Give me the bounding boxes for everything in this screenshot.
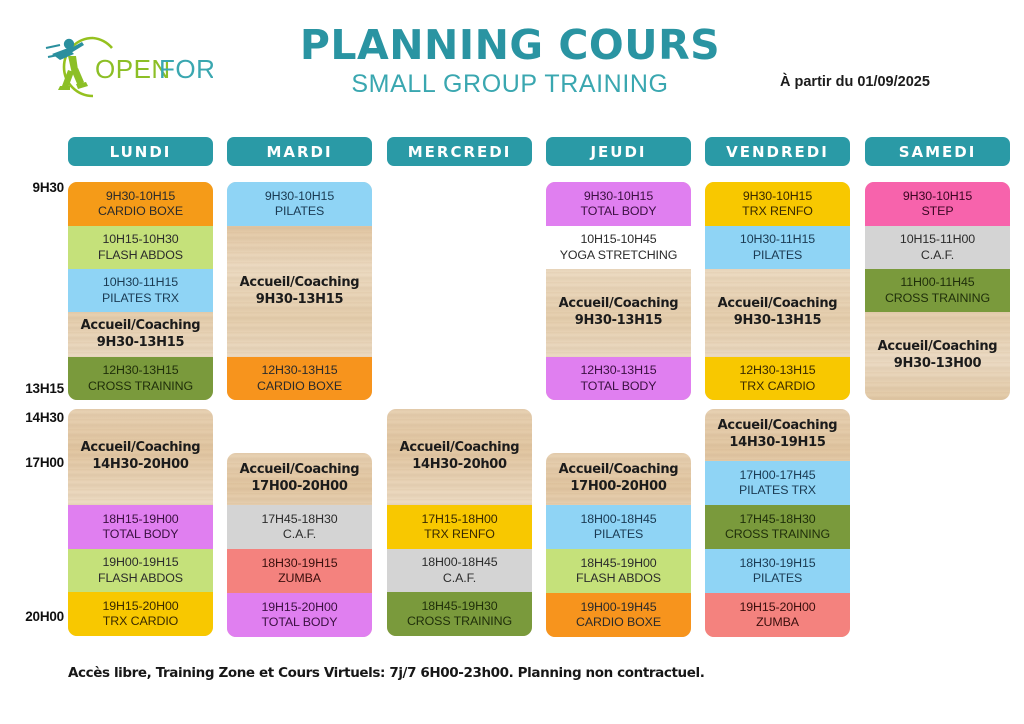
class-name: PILATES <box>753 571 802 586</box>
day-header-mercredi[interactable]: MERCREDI <box>387 137 532 166</box>
time-label: 9H30 <box>4 180 64 195</box>
class-cell[interactable]: 9H30-10H15TOTAL BODY <box>546 182 691 226</box>
class-name: TOTAL BODY <box>581 204 657 219</box>
class-name: TOTAL BODY <box>262 615 338 630</box>
class-time: 12H30-13H15 <box>102 363 178 378</box>
coaching-label: Accueil/Coaching <box>718 296 838 313</box>
class-time: 9H30-10H15 <box>743 189 812 204</box>
class-cell[interactable]: 18H00-18H45PILATES <box>546 505 691 549</box>
coaching-cell[interactable]: Accueil/Coaching14H30-20H00 <box>68 409 213 505</box>
class-time: 18H30-19H15 <box>739 556 815 571</box>
class-name: C.A.F. <box>443 571 476 586</box>
class-cell[interactable]: 17H45-18H30CROSS TRAINING <box>705 505 850 549</box>
coaching-time: 14H30-19H15 <box>729 435 825 452</box>
class-time: 18H00-18H45 <box>421 555 497 570</box>
afternoon-block: Accueil/Coaching14H30-20H0018H15-19H00TO… <box>68 409 213 636</box>
class-cell[interactable]: 18H30-19H15PILATES <box>705 549 850 593</box>
coaching-label: Accueil/Coaching <box>400 440 520 457</box>
class-cell[interactable]: 9H30-10H15TRX RENFO <box>705 182 850 226</box>
class-time: 12H30-13H15 <box>739 363 815 378</box>
coaching-cell[interactable]: Accueil/Coaching9H30-13H00 <box>865 312 1010 400</box>
class-cell[interactable]: 19H00-19H45CARDIO BOXE <box>546 593 691 637</box>
coaching-cell[interactable]: Accueil/Coaching9H30-13H15 <box>705 269 850 357</box>
coaching-cell[interactable]: Accueil/Coaching9H30-13H15 <box>546 269 691 357</box>
class-cell[interactable]: 10H15-10H30FLASH ABDOS <box>68 226 213 269</box>
class-time: 18H15-19H00 <box>102 512 178 527</box>
class-name: PILATES TRX <box>102 291 179 306</box>
class-name: PILATES <box>594 527 643 542</box>
class-cell[interactable]: 12H30-13H15TOTAL BODY <box>546 357 691 400</box>
class-name: C.A.F. <box>283 527 316 542</box>
class-name: YOGA STRETCHING <box>560 248 678 263</box>
class-time: 11H00-11H45 <box>900 275 974 290</box>
class-time: 18H45-19H30 <box>421 599 497 614</box>
class-name: CROSS TRAINING <box>885 291 990 306</box>
coaching-time: 17H00-20H00 <box>570 479 666 496</box>
coaching-time: 9H30-13H00 <box>894 356 981 373</box>
coaching-label: Accueil/Coaching <box>559 296 679 313</box>
class-cell[interactable]: 12H30-13H15TRX CARDIO <box>705 357 850 400</box>
day-header-vendredi[interactable]: VENDREDI <box>705 137 850 166</box>
class-cell[interactable]: 10H30-11H15PILATES TRX <box>68 269 213 312</box>
class-name: TRX RENFO <box>424 527 495 542</box>
coaching-time: 9H30-13H15 <box>575 313 662 330</box>
class-name: FLASH ABDOS <box>98 248 183 263</box>
coaching-label: Accueil/Coaching <box>240 462 360 479</box>
class-time: 18H45-19H00 <box>580 556 656 571</box>
day-header-jeudi[interactable]: JEUDI <box>546 137 691 166</box>
class-time: 18H00-18H45 <box>580 512 656 527</box>
class-cell[interactable]: 19H15-20H00ZUMBA <box>705 593 850 637</box>
class-time: 17H00-17H45 <box>739 468 815 483</box>
class-time: 9H30-10H15 <box>584 189 653 204</box>
coaching-label: Accueil/Coaching <box>240 275 360 292</box>
class-time: 10H15-10H30 <box>102 232 178 247</box>
morning-block: 9H30-10H15STEP10H15-11H00C.A.F.11H00-11H… <box>865 182 1010 400</box>
coaching-label: Accueil/Coaching <box>81 440 201 457</box>
class-name: FLASH ABDOS <box>98 571 183 586</box>
class-name: TRX CARDIO <box>740 379 815 394</box>
coaching-cell[interactable]: Accueil/Coaching14H30-20h00 <box>387 409 532 505</box>
class-cell[interactable]: 9H30-10H15PILATES <box>227 182 372 226</box>
class-time: 9H30-10H15 <box>903 189 972 204</box>
class-name: TOTAL BODY <box>581 379 657 394</box>
schedule-grid: 9H3013H1514H3017H0020H00LUNDI9H30-10H15C… <box>0 0 1024 724</box>
coaching-cell[interactable]: Accueil/Coaching14H30-19H15 <box>705 409 850 461</box>
coaching-time: 14H30-20h00 <box>412 457 507 474</box>
class-time: 17H45-18H30 <box>261 512 337 527</box>
footer-note: Accès libre, Training Zone et Cours Virt… <box>68 665 868 681</box>
time-label: 17H00 <box>4 455 64 470</box>
class-cell[interactable]: 19H00-19H15FLASH ABDOS <box>68 549 213 592</box>
class-cell[interactable]: 17H15-18H00TRX RENFO <box>387 505 532 549</box>
class-time: 9H30-10H15 <box>106 189 175 204</box>
class-time: 19H15-20H00 <box>102 599 178 614</box>
class-cell[interactable]: 9H30-10H15STEP <box>865 182 1010 226</box>
class-cell[interactable]: 18H30-19H15ZUMBA <box>227 549 372 593</box>
class-cell[interactable]: 11H00-11H45CROSS TRAINING <box>865 269 1010 312</box>
class-name: TOTAL BODY <box>103 527 179 542</box>
coaching-label: Accueil/Coaching <box>878 339 998 356</box>
coaching-time: 9H30-13H15 <box>734 313 821 330</box>
class-name: CROSS TRAINING <box>725 527 830 542</box>
coaching-time: 14H30-20H00 <box>92 457 188 474</box>
morning-block: 9H30-10H15TOTAL BODY10H15-10H45YOGA STRE… <box>546 182 691 400</box>
coaching-label: Accueil/Coaching <box>81 318 201 335</box>
class-name: ZUMBA <box>278 571 321 586</box>
class-time: 19H15-20H00 <box>739 600 815 615</box>
time-label: 14H30 <box>4 410 64 425</box>
class-time: 10H30-11H15 <box>103 275 178 290</box>
afternoon-block: Accueil/Coaching14H30-19H1517H00-17H45PI… <box>705 409 850 637</box>
coaching-label: Accueil/Coaching <box>718 418 838 435</box>
class-name: CROSS TRAINING <box>88 379 193 394</box>
day-header-lundi[interactable]: LUNDI <box>68 137 213 166</box>
class-cell[interactable]: 9H30-10H15CARDIO BOXE <box>68 182 213 226</box>
class-cell[interactable]: 19H15-20H00TOTAL BODY <box>227 593 372 637</box>
class-time: 10H15-10H45 <box>580 232 656 247</box>
class-cell[interactable]: 10H15-11H00C.A.F. <box>865 226 1010 269</box>
day-header-samedi[interactable]: SAMEDI <box>865 137 1010 166</box>
class-cell[interactable]: 17H45-18H30C.A.F. <box>227 505 372 549</box>
class-name: PILATES <box>753 248 802 263</box>
class-cell[interactable]: 10H30-11H15PILATES <box>705 226 850 269</box>
coaching-time: 9H30-13H15 <box>256 292 343 309</box>
class-name: C.A.F. <box>921 248 954 263</box>
class-cell[interactable]: 18H00-18H45C.A.F. <box>387 549 532 592</box>
class-cell[interactable]: 19H15-20H00TRX CARDIO <box>68 592 213 636</box>
class-name: TRX CARDIO <box>103 614 178 629</box>
class-name: CARDIO BOXE <box>98 204 183 219</box>
class-time: 18H30-19H15 <box>261 556 337 571</box>
class-time: 17H45-18H30 <box>739 512 815 527</box>
class-name: STEP <box>922 204 954 219</box>
afternoon-block: Accueil/Coaching14H30-20h0017H15-18H00TR… <box>387 409 532 636</box>
coaching-time: 9H30-13H15 <box>97 335 184 352</box>
class-cell[interactable]: 12H30-13H15CARDIO BOXE <box>227 357 372 400</box>
coaching-cell[interactable]: Accueil/Coaching17H00-20H00 <box>546 453 691 505</box>
class-cell[interactable]: 18H45-19H30CROSS TRAINING <box>387 592 532 636</box>
class-cell[interactable]: 18H15-19H00TOTAL BODY <box>68 505 213 549</box>
class-cell[interactable]: 17H00-17H45PILATES TRX <box>705 461 850 505</box>
coaching-cell[interactable]: Accueil/Coaching17H00-20H00 <box>227 453 372 505</box>
coaching-cell[interactable]: Accueil/Coaching9H30-13H15 <box>227 226 372 357</box>
coaching-time: 17H00-20H00 <box>251 479 347 496</box>
day-header-mardi[interactable]: MARDI <box>227 137 372 166</box>
class-time: 12H30-13H15 <box>261 363 337 378</box>
class-name: FLASH ABDOS <box>576 571 661 586</box>
coaching-label: Accueil/Coaching <box>559 462 679 479</box>
class-time: 10H30-11H15 <box>740 232 815 247</box>
class-name: TRX RENFO <box>742 204 813 219</box>
class-name: CROSS TRAINING <box>407 614 512 629</box>
class-name: PILATES TRX <box>739 483 816 498</box>
morning-block: 9H30-10H15PILATESAccueil/Coaching9H30-13… <box>227 182 372 400</box>
morning-block: 9H30-10H15TRX RENFO10H30-11H15PILATESAcc… <box>705 182 850 400</box>
coaching-cell[interactable]: Accueil/Coaching9H30-13H15 <box>68 312 213 357</box>
class-time: 12H30-13H15 <box>580 363 656 378</box>
class-time: 9H30-10H15 <box>265 189 334 204</box>
class-name: PILATES <box>275 204 324 219</box>
class-cell[interactable]: 18H45-19H00FLASH ABDOS <box>546 549 691 593</box>
time-label: 20H00 <box>4 609 64 624</box>
morning-block: 9H30-10H15CARDIO BOXE10H15-10H30FLASH AB… <box>68 182 213 400</box>
class-time: 17H15-18H00 <box>421 512 497 527</box>
class-time: 19H00-19H45 <box>580 600 656 615</box>
class-time: 10H15-11H00 <box>900 232 975 247</box>
afternoon-block: Accueil/Coaching17H00-20H0017H45-18H30C.… <box>227 453 372 637</box>
class-time: 19H00-19H15 <box>102 555 178 570</box>
afternoon-block: Accueil/Coaching17H00-20H0018H00-18H45PI… <box>546 453 691 637</box>
time-label: 13H15 <box>4 381 64 396</box>
class-name: CARDIO BOXE <box>576 615 661 630</box>
class-cell[interactable]: 10H15-10H45YOGA STRETCHING <box>546 226 691 269</box>
class-name: ZUMBA <box>756 615 799 630</box>
class-cell[interactable]: 12H30-13H15CROSS TRAINING <box>68 357 213 400</box>
class-time: 19H15-20H00 <box>261 600 337 615</box>
class-name: CARDIO BOXE <box>257 379 342 394</box>
